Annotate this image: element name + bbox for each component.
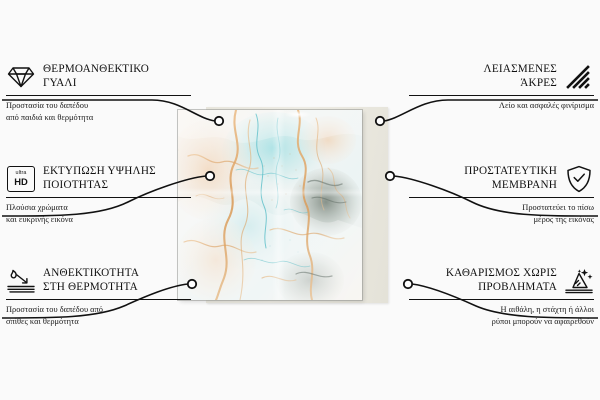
- feature-header: ultra HD ΕΚΤΥΠΩΣΗ ΥΨΗΛΗΣ ΠΟΙΟΤΗΤΑΣ: [6, 164, 191, 194]
- ultra-hd-bottom-label: HD: [14, 177, 28, 186]
- feature-header: ΑΝΘΕΚΤΙΚΟΤΗΤΑ ΣΤΗ ΘΕΡΜΟΤΗΤΑ: [6, 266, 191, 296]
- feature-title: ΛΕΙΑΣΜΕΝΕΣ ΆΚΡΕΣ: [409, 63, 557, 90]
- feature-easy-cleaning: ΚΑΘΑΡΙΣΜΟΣ ΧΩΡΙΣ ΠΡΟΒΛΗΜΑΤΑ Η αιθάλη, η …: [409, 266, 594, 328]
- glass-panel: [178, 110, 362, 300]
- feature-description: Λείο και ασφαλές φινίρισμα: [409, 100, 594, 112]
- feature-high-quality-print: ultra HD ΕΚΤΥΠΩΣΗ ΥΨΗΛΗΣ ΠΟΙΟΤΗΤΑΣ Πλούσ…: [6, 164, 191, 226]
- flame-deflect-icon: [6, 266, 36, 296]
- feature-header: ΠΡΟΣΤΑΤΕΥΤΙΚΗ ΜΕΜΒΡΑΝΗ: [409, 164, 594, 194]
- sparkle-wipe-icon: [564, 266, 594, 296]
- divider-rule: [409, 197, 594, 198]
- feature-heat-resistance: ΑΝΘΕΚΤΙΚΟΤΗΤΑ ΣΤΗ ΘΕΡΜΟΤΗΤΑ Προστασία το…: [6, 266, 191, 328]
- diamond-icon: [6, 62, 36, 92]
- feature-title: ΑΝΘΕΚΤΙΚΟΤΗΤΑ ΣΤΗ ΘΕΡΜΟΤΗΤΑ: [43, 267, 191, 294]
- divider-rule: [409, 299, 594, 300]
- feature-header: ΚΑΘΑΡΙΣΜΟΣ ΧΩΡΙΣ ΠΡΟΒΛΗΜΑΤΑ: [409, 266, 594, 296]
- feature-protective-membrane: ΠΡΟΣΤΑΤΕΥΤΙΚΗ ΜΕΜΒΡΑΝΗ Προστατεύει το πί…: [409, 164, 594, 226]
- feature-title: ΠΡΟΣΤΑΤΕΥΤΙΚΗ ΜΕΜΒΡΑΝΗ: [409, 165, 557, 192]
- feature-description: Προστασία του δαπέδου από παιδιά και θερ…: [6, 100, 191, 124]
- shield-check-icon: [564, 164, 594, 194]
- divider-rule: [6, 197, 191, 198]
- divider-rule: [409, 95, 594, 96]
- polished-edges-icon: [564, 62, 594, 92]
- ultra-hd-badge-icon: ultra HD: [6, 164, 36, 194]
- product-feature-infographic: ΘΕΡΜΟΑΝΘΕΚΤΙΚΟ ΓΥΑΛΙ Προστασία του δαπέδ…: [0, 0, 600, 400]
- marble-ink-artwork: [178, 110, 362, 300]
- feature-description: Προστατεύει το πίσω μέρος της εικόνας: [409, 202, 594, 226]
- feature-header: ΛΕΙΑΣΜΕΝΕΣ ΆΚΡΕΣ: [409, 62, 594, 92]
- product-image-group: [178, 110, 388, 300]
- divider-rule: [6, 299, 191, 300]
- feature-thermal-glass: ΘΕΡΜΟΑΝΘΕΚΤΙΚΟ ΓΥΑΛΙ Προστασία του δαπέδ…: [6, 62, 191, 124]
- feature-title: ΘΕΡΜΟΑΝΘΕΚΤΙΚΟ ΓΥΑΛΙ: [43, 63, 191, 90]
- feature-title: ΚΑΘΑΡΙΣΜΟΣ ΧΩΡΙΣ ΠΡΟΒΛΗΜΑΤΑ: [409, 267, 557, 294]
- feature-description: Η αιθάλη, η στάχτη ή άλλοι ρύποι μπορούν…: [409, 304, 594, 328]
- feature-title: ΕΚΤΥΠΩΣΗ ΥΨΗΛΗΣ ΠΟΙΟΤΗΤΑΣ: [43, 165, 191, 192]
- feature-header: ΘΕΡΜΟΑΝΘΕΚΤΙΚΟ ΓΥΑΛΙ: [6, 62, 191, 92]
- feature-description: Προστασία του δαπέδου από σπίθες και θερ…: [6, 304, 191, 328]
- divider-rule: [6, 95, 191, 96]
- feature-description: Πλούσια χρώματα και ευκρινής εικόνα: [6, 202, 191, 226]
- feature-polished-edges: ΛΕΙΑΣΜΕΝΕΣ ΆΚΡΕΣ Λείο και ασφαλές φινίρι…: [409, 62, 594, 112]
